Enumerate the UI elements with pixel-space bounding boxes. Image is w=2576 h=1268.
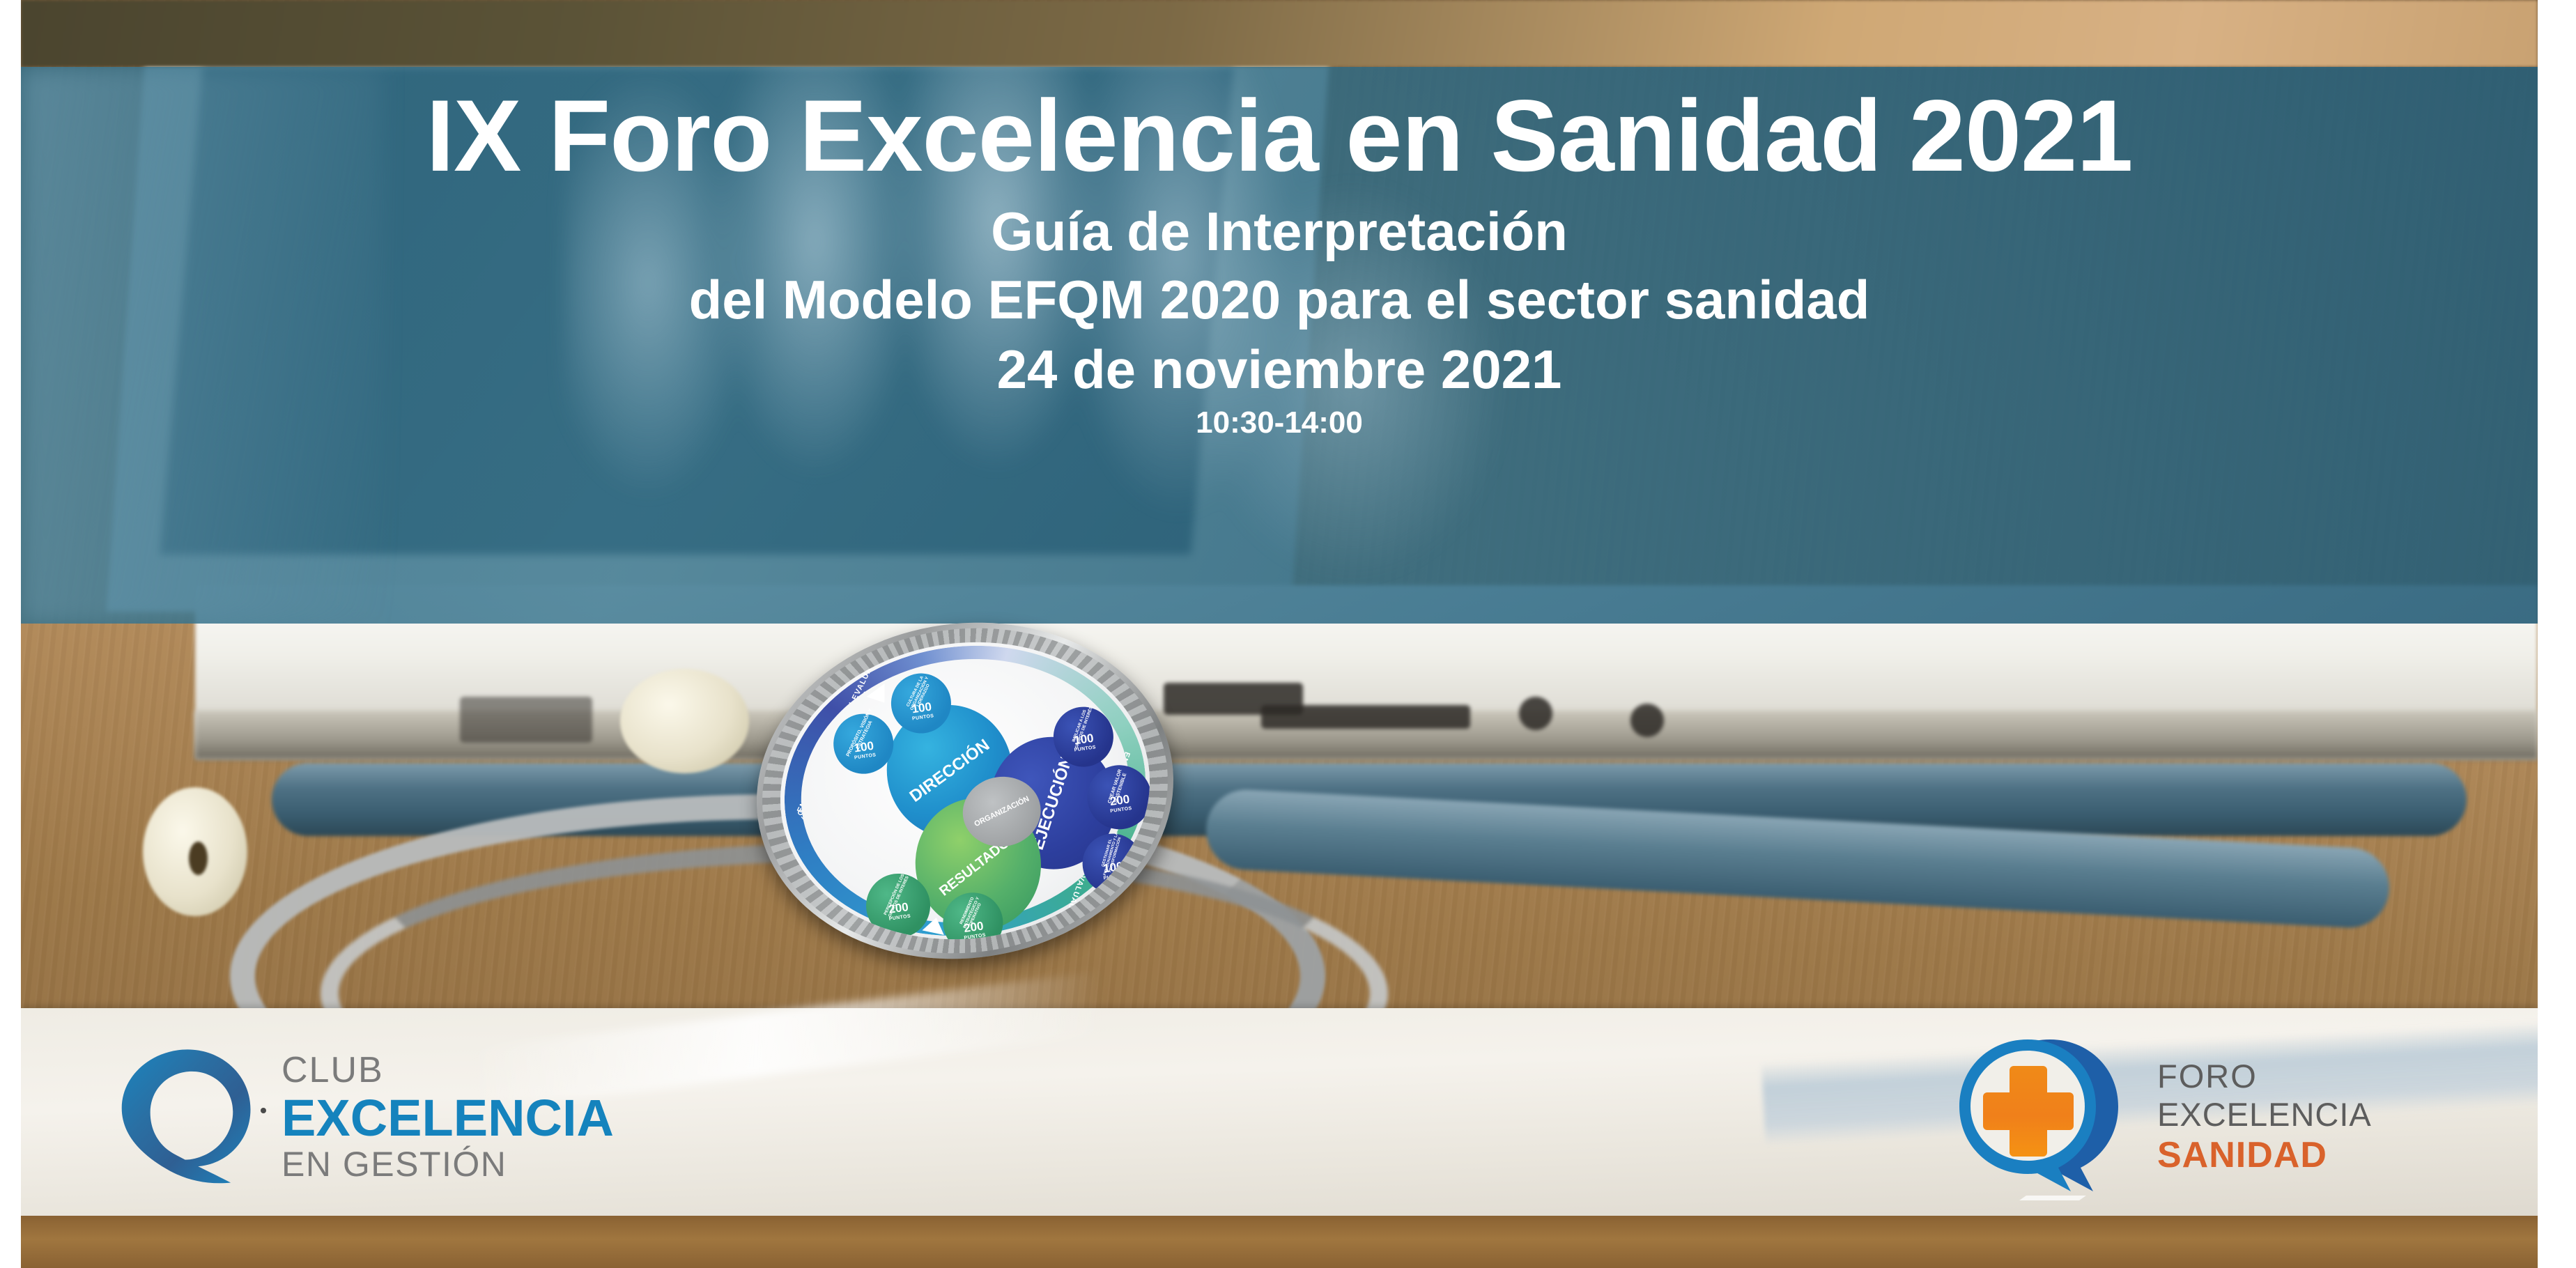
foro-speech-bubble-cross-icon xyxy=(1944,1030,2139,1204)
page-title: IX Foro Excelencia en Sanidad 2021 xyxy=(21,85,2538,187)
earpiece-hole xyxy=(189,842,208,875)
laptop-port-audio-in xyxy=(1519,697,1552,730)
foro-logo-wordmark: FORO EXCELENCIA SANIDAD xyxy=(2157,1060,2372,1175)
laptop-indicator-light xyxy=(460,697,592,743)
efqm-model-diagram: ENFOQUES | DESPLIEGUE | EVALUACIÓN, REVI… xyxy=(761,619,1169,963)
stethoscope-earpiece-right xyxy=(620,669,749,773)
photo-top-strip xyxy=(21,0,2538,67)
efqm-center-label: ORGANIZACIÓN xyxy=(973,795,1031,829)
logo-foro-excelencia-sanidad: FORO EXCELENCIA SANIDAD xyxy=(1944,1023,2474,1211)
bottom-wood-strip xyxy=(21,1216,2538,1268)
event-time: 10:30-14:00 xyxy=(21,406,2538,440)
foro-logo-line-excelencia: EXCELENCIA xyxy=(2157,1098,2372,1131)
laptop-port-sdcard xyxy=(1261,705,1470,729)
logo-club-excelencia-en-gestion: CLUB EXCELENCIA EN GESTIÓN xyxy=(111,1030,815,1204)
club-logo-wordmark: CLUB EXCELENCIA EN GESTIÓN xyxy=(281,1052,614,1182)
foro-logo-line-foro: FORO xyxy=(2157,1060,2372,1093)
laptop-port-audio-out xyxy=(1630,704,1664,737)
club-q-swoosh-icon xyxy=(111,1044,258,1190)
club-logo-line-en-gestion: EN GESTIÓN xyxy=(281,1147,614,1182)
stethoscope-chestpiece: ENFOQUES | DESPLIEGUE | EVALUACIÓN, REVI… xyxy=(756,624,1174,958)
event-date: 24 de noviembre 2021 xyxy=(21,340,2538,399)
hero-overlay: IX Foro Excelencia en Sanidad 2021 Guía … xyxy=(21,67,2538,624)
club-logo-line-excelencia: EXCELENCIA xyxy=(281,1092,614,1144)
hero-subtitle-line2: del Modelo EFQM 2020 para el sector sani… xyxy=(21,270,2538,329)
club-logo-line-club: CLUB xyxy=(281,1052,614,1088)
club-logo-dot xyxy=(261,1108,266,1113)
hero-subtitle-line1: Guía de Interpretación xyxy=(21,202,2538,261)
hero-text-block: IX Foro Excelencia en Sanidad 2021 Guía … xyxy=(21,67,2538,440)
event-banner: IX Foro Excelencia en Sanidad 2021 Guía … xyxy=(0,0,2576,1268)
foro-logo-line-sanidad: SANIDAD xyxy=(2157,1137,2372,1174)
stethoscope-earpiece-left xyxy=(143,787,247,916)
